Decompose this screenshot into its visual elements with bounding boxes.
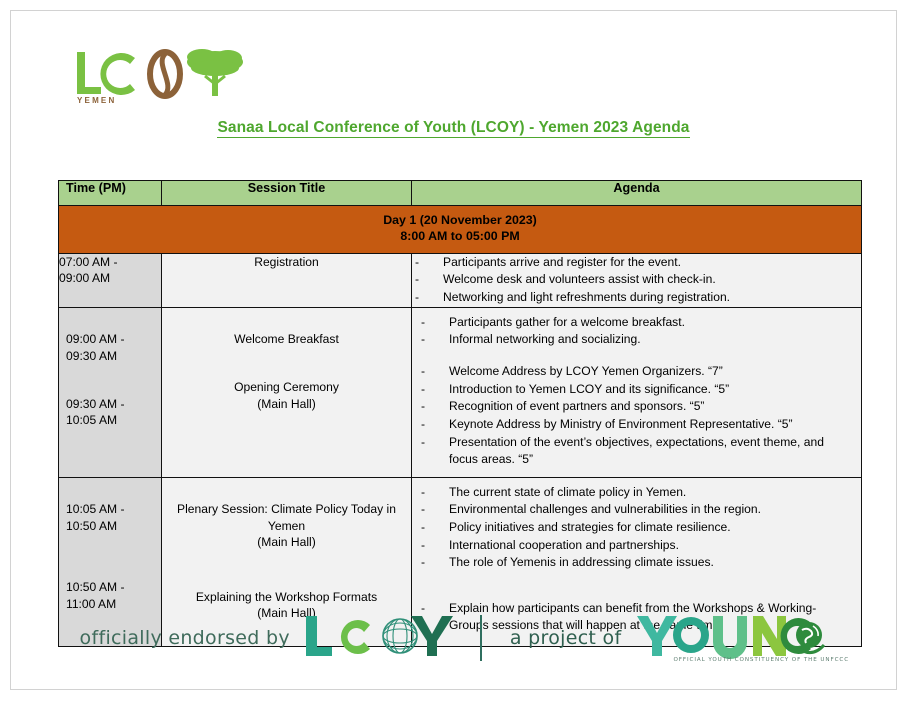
table-body: Day 1 (20 November 2023) 8:00 AM to 05:0… (59, 206, 862, 647)
page-title: Sanaa Local Conference of Youth (LCOY) -… (11, 119, 896, 137)
agenda-bullet-list: Participants gather for a welcome breakf… (418, 314, 853, 349)
agenda-bullet-item: Keynote Address by Ministry of Environme… (418, 416, 853, 433)
cell-time-block: 09:00 AM - 09:30 AM (59, 324, 161, 372)
cell-agenda: Participants gather for a welcome breakf… (412, 307, 862, 477)
day-banner-line2: 8:00 AM to 05:00 PM (63, 228, 857, 244)
agenda-table: Time (PM) Session Title Agenda Day 1 (20… (58, 180, 862, 647)
table-row: 07:00 AM - 09:00 AM Registration Partici… (59, 253, 862, 307)
cell-time-block: 09:30 AM - 10:05 AM (59, 389, 161, 437)
lcoy-footer-logo (304, 612, 456, 664)
table-row: 09:00 AM - 09:30 AM 09:30 AM - 10:05 AM … (59, 307, 862, 477)
lcoy-yemen-logo: YEMEN (71, 46, 251, 114)
column-header-time: Time (PM) (59, 181, 162, 206)
agenda-bullet-item: Introduction to Yemen LCOY and its signi… (418, 381, 853, 398)
agenda-bullet-list: Participants arrive and register for the… (412, 254, 861, 307)
document-page: YEMEN Sanaa Local Conference of Youth (L… (10, 10, 897, 690)
table-header: Time (PM) Session Title Agenda (59, 181, 862, 206)
cell-time: 07:00 AM - 09:00 AM (59, 253, 162, 307)
project-of-label: a project of (510, 627, 622, 649)
agenda-bullet-list: Welcome Address by LCOY Yemen Organizers… (418, 363, 853, 468)
column-header-agenda: Agenda (412, 181, 862, 206)
agenda-bullet-item: Welcome desk and volunteers assist with … (412, 271, 861, 288)
cell-session: Registration (162, 253, 412, 307)
agenda-bullet-item: Welcome Address by LCOY Yemen Organizers… (418, 363, 853, 380)
agenda-bullet-item: Networking and light refreshments during… (412, 289, 861, 306)
cell-agenda-block: Participants gather for a welcome breakf… (412, 308, 861, 357)
day-banner-cell: Day 1 (20 November 2023) 8:00 AM to 05:0… (59, 206, 862, 254)
youngo-footer-logo: OFFICIAL YOUTH CONSTITUENCY OF THE UNFCC… (635, 613, 827, 663)
header-row: Time (PM) Session Title Agenda (59, 181, 862, 206)
endorsed-by-label: officially endorsed by (80, 627, 290, 649)
agenda-bullet-item: Environmental challenges and vulnerabili… (418, 501, 853, 518)
agenda-bullet-item: The current state of climate policy in Y… (418, 484, 853, 501)
agenda-bullet-item: Participants gather for a welcome breakf… (418, 314, 853, 331)
cell-session-block: Plenary Session: Climate Policy Today in… (162, 494, 411, 558)
agenda-bullet-item: Informal networking and socializing. (418, 331, 853, 348)
document-footer: officially endorsed by a pro (11, 601, 896, 675)
logo-subtitle: YEMEN (77, 96, 116, 105)
agenda-bullet-item: Participants arrive and register for the… (412, 254, 861, 271)
cell-time-block: 10:05 AM - 10:50 AM (59, 494, 161, 542)
cell-agenda-block: Welcome Address by LCOY Yemen Organizers… (412, 357, 861, 477)
column-header-session: Session Title (162, 181, 412, 206)
agenda-bullet-item: The role of Yemenis in addressing climat… (418, 554, 853, 571)
agenda-bullet-list: The current state of climate policy in Y… (418, 484, 853, 572)
day-banner-line1: Day 1 (20 November 2023) (63, 212, 857, 228)
document-header: YEMEN Sanaa Local Conference of Youth (L… (11, 11, 896, 116)
youngo-subtitle: OFFICIAL YOUTH CONSTITUENCY OF THE UNFCC… (673, 657, 849, 663)
footer-divider (480, 615, 482, 661)
agenda-bullet-item: Presentation of the event’s objectives, … (418, 434, 853, 468)
agenda-bullet-item: International cooperation and partnershi… (418, 537, 853, 554)
agenda-bullet-item: Recognition of event partners and sponso… (418, 398, 853, 415)
cell-session: Welcome Breakfast Opening Ceremony (Main… (162, 307, 412, 477)
cell-time: 09:00 AM - 09:30 AM 09:30 AM - 10:05 AM (59, 307, 162, 477)
cell-agenda: Participants arrive and register for the… (412, 253, 862, 307)
cell-session-block: Welcome Breakfast (162, 324, 411, 355)
agenda-table-container: Time (PM) Session Title Agenda Day 1 (20… (58, 180, 861, 647)
day-banner-row: Day 1 (20 November 2023) 8:00 AM to 05:0… (59, 206, 862, 254)
agenda-bullet-item: Policy initiatives and strategies for cl… (418, 519, 853, 536)
cell-session-block: Opening Ceremony (Main Hall) (162, 372, 411, 420)
page-title-text: Sanaa Local Conference of Youth (LCOY) -… (217, 119, 689, 138)
cell-agenda-block: The current state of climate policy in Y… (412, 478, 861, 580)
